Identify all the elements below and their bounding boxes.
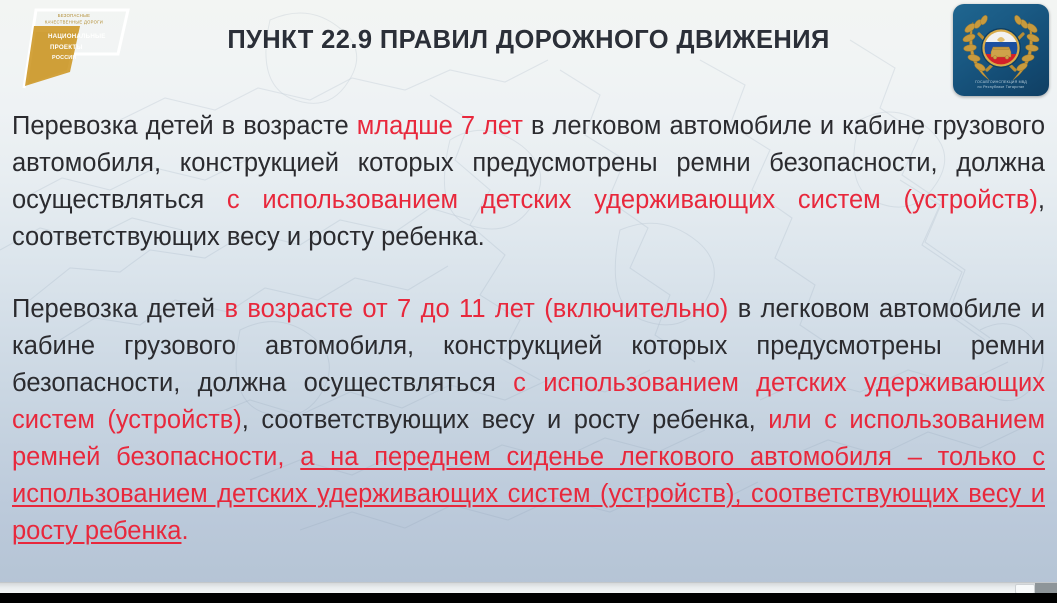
emblem-caption: ГОСАВТОИНСПЕКЦИЯ МВД по Республике Татар… [953, 80, 1049, 90]
emblem-caption-line2: по Республике Татарстан [953, 85, 1049, 90]
p2-highlight-age: в возрасте от 7 до 11 лет (включительно) [224, 295, 728, 323]
scrollbar-right-cap[interactable] [1035, 583, 1057, 593]
page-title: ПУНКТ 22.9 ПРАВИЛ ДОРОЖНОГО ДВИЖЕНИЯ [0, 26, 1057, 55]
paragraph-7-to-11: Перевозка детей в возрасте от 7 до 11 ле… [12, 291, 1045, 550]
paragraph-under-7: Перевозка детей в возрасте младше 7 лет … [12, 108, 1045, 256]
slide-header: БЕЗОПАСНЫЕ КАЧЕСТВЕННЫЕ ДОРОГИ НАЦИОНАЛЬ… [0, 0, 1057, 96]
svg-text:БЕЗОПАСНЫЕ: БЕЗОПАСНЫЕ [58, 13, 90, 18]
letterbox-bar [0, 593, 1057, 603]
p2-seg1: Перевозка детей [12, 295, 224, 323]
horizontal-scrollbar[interactable] [0, 582, 1057, 593]
p1-highlight-age: младше 7 лет [357, 112, 523, 140]
p2-seg8: . [181, 517, 188, 545]
p1-highlight-restraint: с использованием детских удерживающих си… [227, 186, 1038, 214]
svg-text:РОССИИ: РОССИИ [52, 55, 76, 61]
presentation-slide: БЕЗОПАСНЫЕ КАЧЕСТВЕННЫЕ ДОРОГИ НАЦИОНАЛЬ… [0, 0, 1057, 603]
p1-seg1: Перевозка детей в возрасте [12, 112, 357, 140]
gibdd-emblem-icon: ГОСАВТОИНСПЕКЦИЯ МВД по Республике Татар… [953, 4, 1049, 96]
slide-body: Перевозка детей в возрасте младше 7 лет … [12, 108, 1045, 550]
p2-seg5: , соответствующих весу и росту ребенка, [242, 406, 768, 434]
svg-text:КАЧЕСТВЕННЫЕ ДОРОГИ: КАЧЕСТВЕННЫЕ ДОРОГИ [45, 20, 103, 25]
